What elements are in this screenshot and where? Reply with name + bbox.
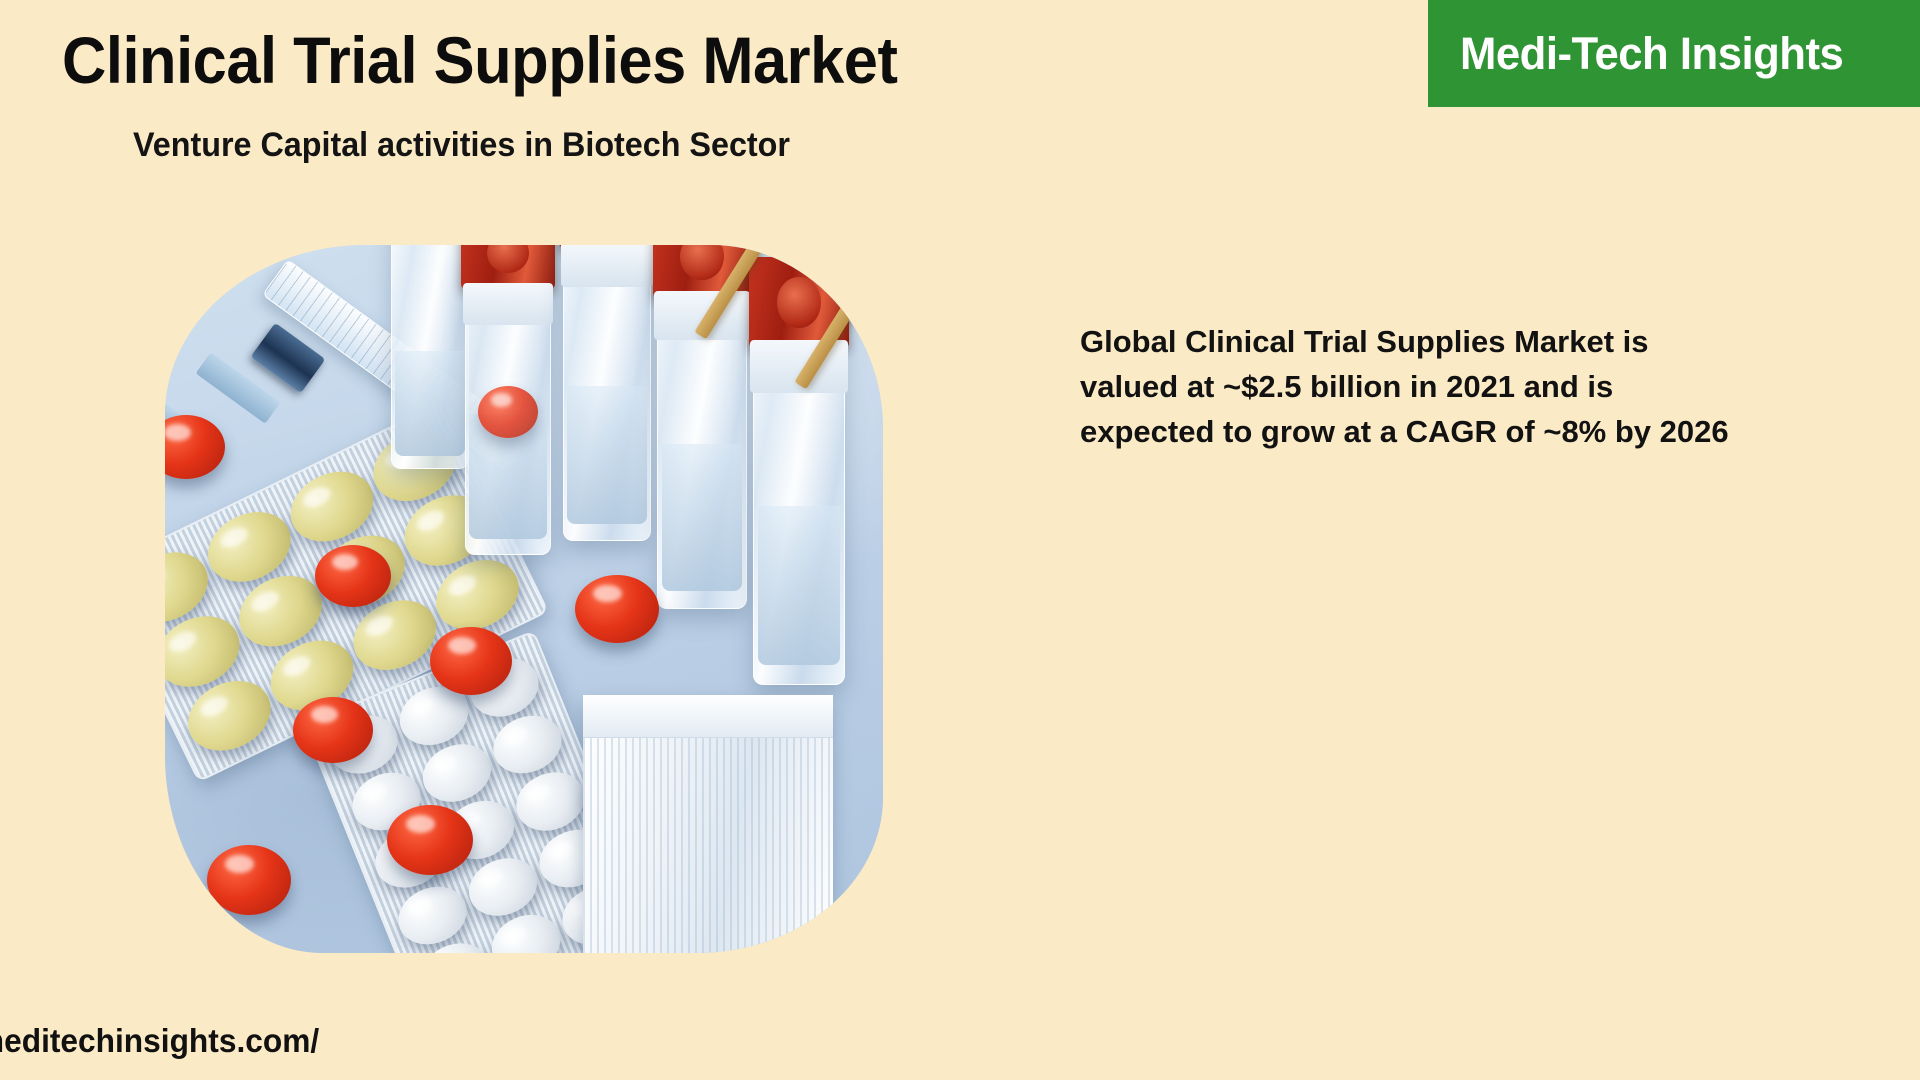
- pill-red: [575, 575, 659, 643]
- pill-red: [207, 845, 291, 915]
- pill-red: [430, 627, 512, 695]
- vial-neck: [561, 245, 654, 287]
- vial-liquid: [758, 506, 841, 665]
- pill-red: [315, 545, 391, 607]
- glass-vial-capped: [465, 255, 551, 555]
- vial-neck: [463, 283, 554, 325]
- market-summary-line-1: Global Clinical Trial Supplies Market is: [1080, 320, 1870, 365]
- vial-liquid: [567, 386, 646, 524]
- glass-vial: [391, 245, 469, 469]
- brand-logo-text: Medi-Tech Insights: [1460, 28, 1843, 80]
- slide-canvas: Clinical Trial Supplies Market Venture C…: [0, 0, 1920, 1080]
- sachet-seal: [583, 695, 833, 738]
- glass-vial-capped: [563, 245, 651, 541]
- market-summary-line-2: valued at ~$2.5 billion in 2021 and is: [1080, 365, 1870, 410]
- footer-url-text[interactable]: https://meditechinsights.com/: [0, 1022, 319, 1060]
- market-summary-line-3: expected to grow at a CAGR of ~8% by 202…: [1080, 410, 1870, 455]
- glass-vial-capped: [657, 259, 747, 609]
- vial-liquid: [662, 444, 743, 590]
- vial-liquid: [395, 351, 465, 455]
- pill-white: [390, 877, 476, 953]
- footer-url[interactable]: https://meditechinsights.com/: [0, 1022, 1920, 1060]
- market-summary-text: Global Clinical Trial Supplies Market is…: [1080, 320, 1870, 455]
- pill-red-in-vial: [478, 386, 538, 438]
- glass-vial-capped: [753, 305, 845, 685]
- pill-red: [387, 805, 473, 875]
- page-title: Clinical Trial Supplies Market: [62, 22, 897, 98]
- medicine-sachet: [583, 695, 833, 953]
- brand-logo: Medi-Tech Insights: [1428, 0, 1920, 107]
- hero-photo: [165, 245, 883, 953]
- page-subtitle: Venture Capital activities in Biotech Se…: [133, 126, 790, 165]
- pill-red: [293, 697, 373, 763]
